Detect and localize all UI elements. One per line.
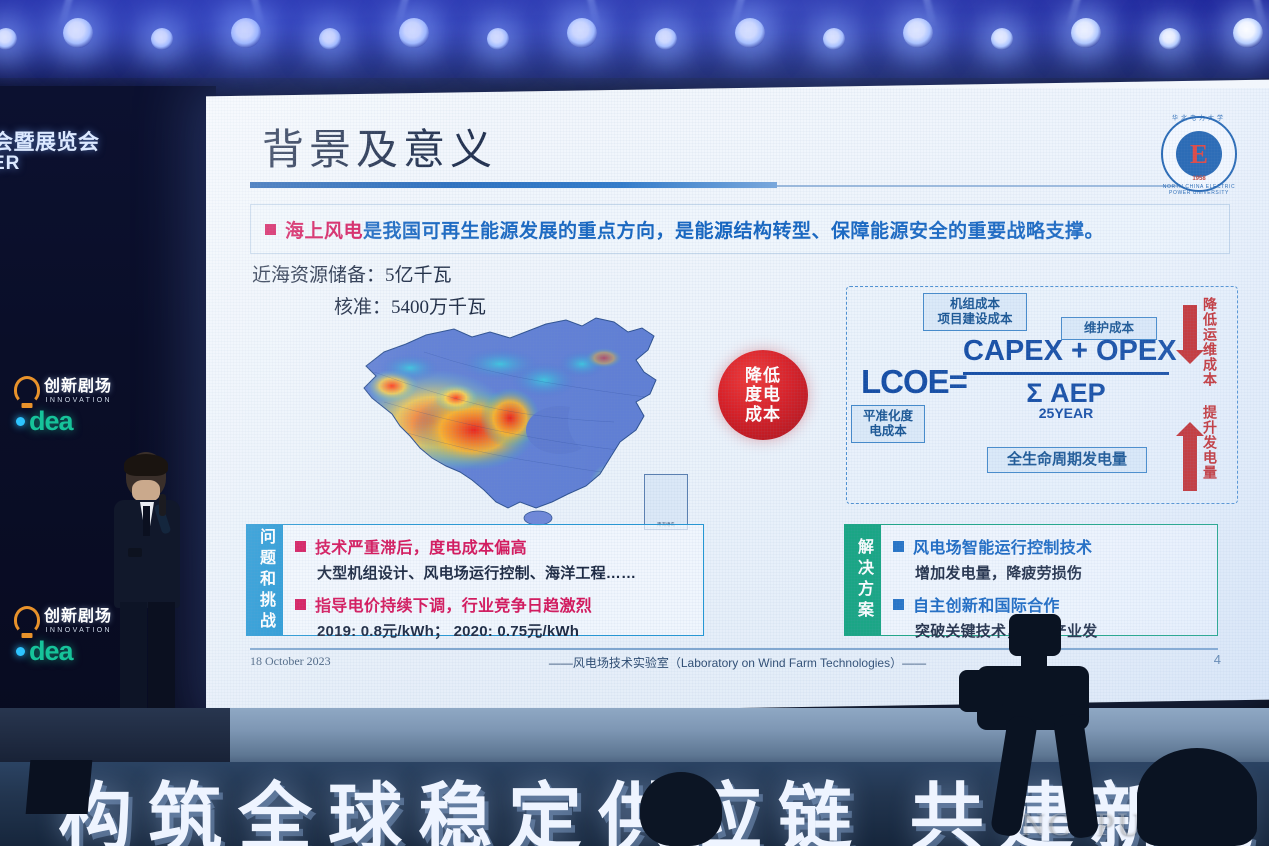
- lighting-truss: [0, 0, 1269, 96]
- bullet-square-icon: [893, 541, 904, 552]
- solution-1-sub: 增加发电量，降疲劳损伤: [915, 562, 1207, 583]
- venue-banner-en: ER: [0, 154, 124, 174]
- logo-top-text: 华北电力大学: [1151, 113, 1247, 122]
- logo-year: 1958: [1151, 176, 1247, 182]
- slide-title: 背景及意义: [262, 116, 497, 177]
- lcoe-left-hand-side: LCOE=: [861, 363, 967, 401]
- audience-laptop: [26, 760, 93, 814]
- bullet-square-icon: [265, 224, 276, 235]
- audience-head-center: [640, 772, 722, 846]
- bullet-square-icon: [295, 541, 306, 552]
- problems-panel-tab: 问题和挑战: [247, 525, 283, 635]
- problem-2-sub: 2019: 0.8元/kWh； 2020: 0.75元/kWh: [317, 620, 693, 641]
- arrow-down-label: 降低运维成本: [1203, 297, 1217, 387]
- logo-mark: E: [1190, 139, 1208, 170]
- arrow-up-icon: [1183, 435, 1197, 491]
- stage-light-5: [319, 28, 341, 50]
- problems-panel-body: 技术严重滞后，度电成本偏高 大型机组设计、风电场运行控制、海洋工程…… 指导电价…: [283, 525, 703, 635]
- conference-stage-photo: 会暨展览会 ER 创新剧场 INNOVATION dea 创新剧场 INNOVA…: [0, 0, 1269, 846]
- lcoe-numerator: CAPEX + OPEX: [963, 335, 1169, 368]
- stage-light-15: [1159, 28, 1181, 50]
- stage-light-1: [0, 28, 17, 50]
- presenter-hair: [124, 454, 168, 476]
- bullet-square-icon: [295, 599, 306, 610]
- stage-light-7: [487, 28, 509, 50]
- stage-light-13: [991, 28, 1013, 50]
- idea-logo-cn-top: 创新剧场: [44, 372, 112, 396]
- problem-1-sub: 大型机组设计、风电场运行控制、海洋工程……: [317, 562, 693, 583]
- lcoe-tag-text: 平准化度 电成本: [863, 409, 913, 438]
- logo-bottom-text: NORTH CHINA ELECTRIC POWER UNIVERSITY: [1151, 184, 1247, 196]
- badge-line-2: 度电: [745, 385, 781, 404]
- lcoe-formula-box: 机组成本 项目建设成本 维护成本 平准化度 电成本 全生命周期发电量 LCOE=…: [846, 286, 1238, 504]
- problem-1-head: 技术严重滞后，度电成本偏高: [315, 534, 527, 558]
- photographer-arm-left: [990, 714, 1038, 837]
- bullet-square-icon: [893, 599, 904, 610]
- opex-tag-text: 维护成本: [1084, 321, 1134, 335]
- aep-tag-text: 全生命周期发电量: [1007, 451, 1127, 468]
- badge-line-3: 成本: [745, 405, 781, 424]
- venue-banner-cn: 会暨展览会: [0, 132, 124, 154]
- camera-lens-icon: [959, 670, 1003, 712]
- aep-tag: 全生命周期发电量: [987, 447, 1147, 473]
- camera-flash-icon: [1009, 614, 1061, 656]
- stage-light-14: [1071, 18, 1101, 48]
- photographer-head: [1137, 748, 1257, 846]
- fraction-bar: [963, 372, 1169, 375]
- problems-panel: 问题和挑战 技术严重滞后，度电成本偏高 大型机组设计、风电场运行控制、海洋工程……: [246, 524, 704, 636]
- university-logo: 华北电力大学 E 1958 NORTH CHINA ELECTRIC POWER…: [1151, 112, 1247, 196]
- idea-dot-icon: [16, 647, 25, 656]
- idea-logo-en-top: INNOVATION: [44, 397, 112, 404]
- title-underline: [250, 182, 777, 188]
- stage-light-3: [151, 28, 173, 50]
- lcoe-arrows: 降低运维成本 提升发电量: [1159, 287, 1235, 505]
- presenter-face: [132, 480, 160, 502]
- stage-light-11: [823, 28, 845, 50]
- lightbulb-icon: [14, 606, 40, 634]
- capex-tag-text: 机组成本 项目建设成本: [937, 297, 1012, 326]
- stage-light-9: [655, 28, 677, 50]
- problem-2-head: 指导电价持续下调，行业竞争日趋激烈: [315, 592, 592, 616]
- photographer-arm-right: [1053, 713, 1100, 840]
- problem-item-1: 技术严重滞后，度电成本偏高: [295, 534, 693, 558]
- south-china-sea-inset: 南海诸岛: [644, 474, 688, 530]
- badge-line-1: 降低: [745, 366, 781, 385]
- capex-tag: 机组成本 项目建设成本: [923, 293, 1027, 331]
- arrow-down-icon: [1183, 305, 1197, 351]
- stage-light-2: [63, 18, 93, 48]
- headline-box: 海上风电 是我国可再生能源发展的重点方向，是能源结构转型、保障能源安全的重要战略…: [250, 204, 1230, 254]
- stage-light-6: [399, 18, 429, 48]
- lcoe-denominator-sub: 25YEAR: [963, 405, 1169, 421]
- presenter-speaker: [88, 452, 214, 752]
- presenter-clicker: [128, 548, 142, 557]
- arrow-up-label: 提升发电量: [1203, 405, 1217, 480]
- solutions-panel-tab: 解决方案: [845, 525, 881, 635]
- idea-dot-icon: [16, 417, 25, 426]
- headline-rest: 是我国可再生能源发展的重点方向，是能源结构转型、保障能源安全的重要战略支撑。: [363, 216, 1104, 243]
- venue-banner-text: 会暨展览会 ER: [0, 132, 124, 174]
- lightbulb-icon: [14, 376, 40, 404]
- idea-wordmark-top: dea: [16, 406, 118, 437]
- china-wind-resource-map: 南海诸岛: [314, 302, 696, 532]
- solution-item-1: 风电场智能运行控制技术: [893, 534, 1207, 558]
- microphone-icon: [159, 494, 166, 516]
- solution-1-head: 风电场智能运行控制技术: [913, 534, 1092, 558]
- idea-word-text-top: dea: [29, 406, 73, 437]
- idea-word-text-bottom: dea: [29, 636, 73, 667]
- reduce-lcoe-badge: 降低 度电 成本: [718, 350, 808, 440]
- photographer-silhouette: [969, 596, 1269, 846]
- innovation-theatre-logo-top: 创新剧场 INNOVATION dea: [14, 372, 118, 437]
- lcoe-fraction: CAPEX + OPEX Σ AEP 25YEAR: [963, 335, 1169, 421]
- headline-highlight: 海上风电: [285, 216, 363, 243]
- stage-light-10: [735, 18, 765, 48]
- presenter-tie: [143, 506, 150, 536]
- china-map-svg: [314, 302, 696, 532]
- lcoe-tag: 平准化度 电成本: [851, 405, 925, 443]
- resource-line-1: 近海资源储备：5亿千瓦: [252, 260, 452, 287]
- logo-core: E: [1176, 131, 1222, 177]
- problem-item-2: 指导电价持续下调，行业竞争日趋激烈: [295, 592, 693, 616]
